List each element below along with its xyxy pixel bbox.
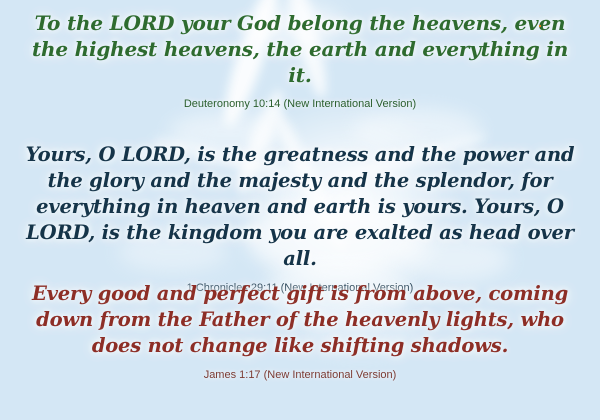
verse-text-james: Every good and perfect gift is from abov… (0, 281, 600, 359)
verse-citation-deuteronomy: Deuteronomy 10:14 (New International Ver… (0, 97, 600, 111)
verse-text-chronicles: Yours, O LORD, is the greatness and the … (0, 142, 600, 272)
verse-block-deuteronomy: To the LORD your God belong the heavens,… (0, 10, 600, 111)
stray-orange-speck (539, 25, 541, 27)
verse-citation-james: James 1:17 (New International Version) (0, 368, 600, 382)
verse-poster: To the LORD your God belong the heavens,… (0, 0, 600, 420)
verse-text-deuteronomy: To the LORD your God belong the heavens,… (0, 10, 600, 88)
verse-block-james: Every good and perfect gift is from abov… (0, 281, 600, 382)
verse-block-chronicles: Yours, O LORD, is the greatness and the … (0, 142, 600, 295)
